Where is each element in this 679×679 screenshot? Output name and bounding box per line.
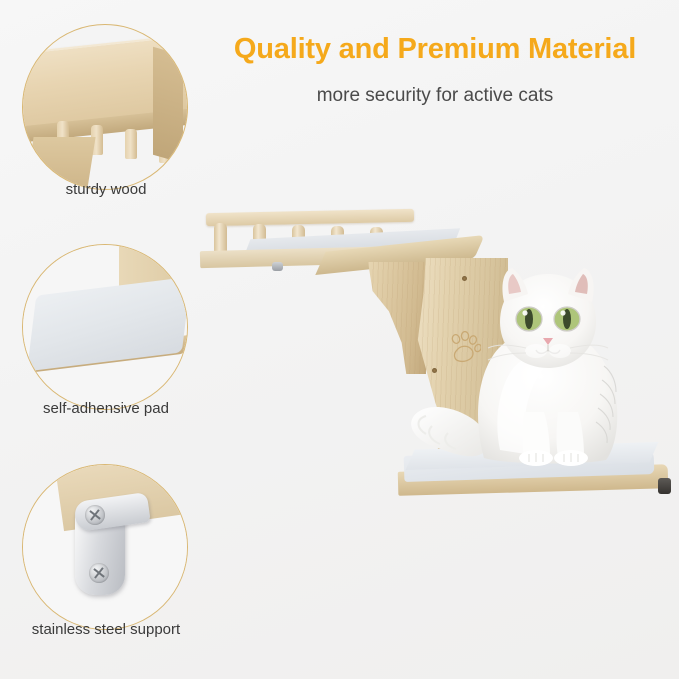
- steel-bracket-illustration: [23, 465, 187, 629]
- lower-shelf-mounting-bracket: [658, 478, 671, 494]
- sturdy-wood-illustration: [23, 25, 187, 189]
- cat-photo: [396, 262, 646, 474]
- page-subtitle: more security for active cats: [200, 85, 670, 107]
- upper-shelf-mounting-bracket: [272, 262, 283, 271]
- railing-top-rail: [206, 209, 414, 226]
- feature-inset-stainless-steel-support: [22, 464, 188, 630]
- feature-caption-sturdy-wood: sturdy wood: [0, 181, 212, 198]
- screw-hole-shape: [175, 259, 180, 264]
- feature-caption-stainless-steel-support: stainless steel support: [0, 621, 212, 638]
- phillips-screw-icon: [85, 505, 105, 525]
- felt-pad-illustration: [23, 245, 187, 409]
- product-marketing-image: Quality and Premium Material more securi…: [0, 0, 679, 679]
- feature-inset-self-adhensive-pad: [22, 244, 188, 410]
- feature-inset-sturdy-wood: [22, 24, 188, 190]
- wood-side-shape: [153, 47, 183, 164]
- page-title: Quality and Premium Material: [200, 33, 670, 66]
- phillips-screw-icon: [89, 563, 109, 583]
- feature-caption-self-adhensive-pad: self-adhensive pad: [0, 400, 212, 417]
- wood-post-shape: [125, 129, 137, 159]
